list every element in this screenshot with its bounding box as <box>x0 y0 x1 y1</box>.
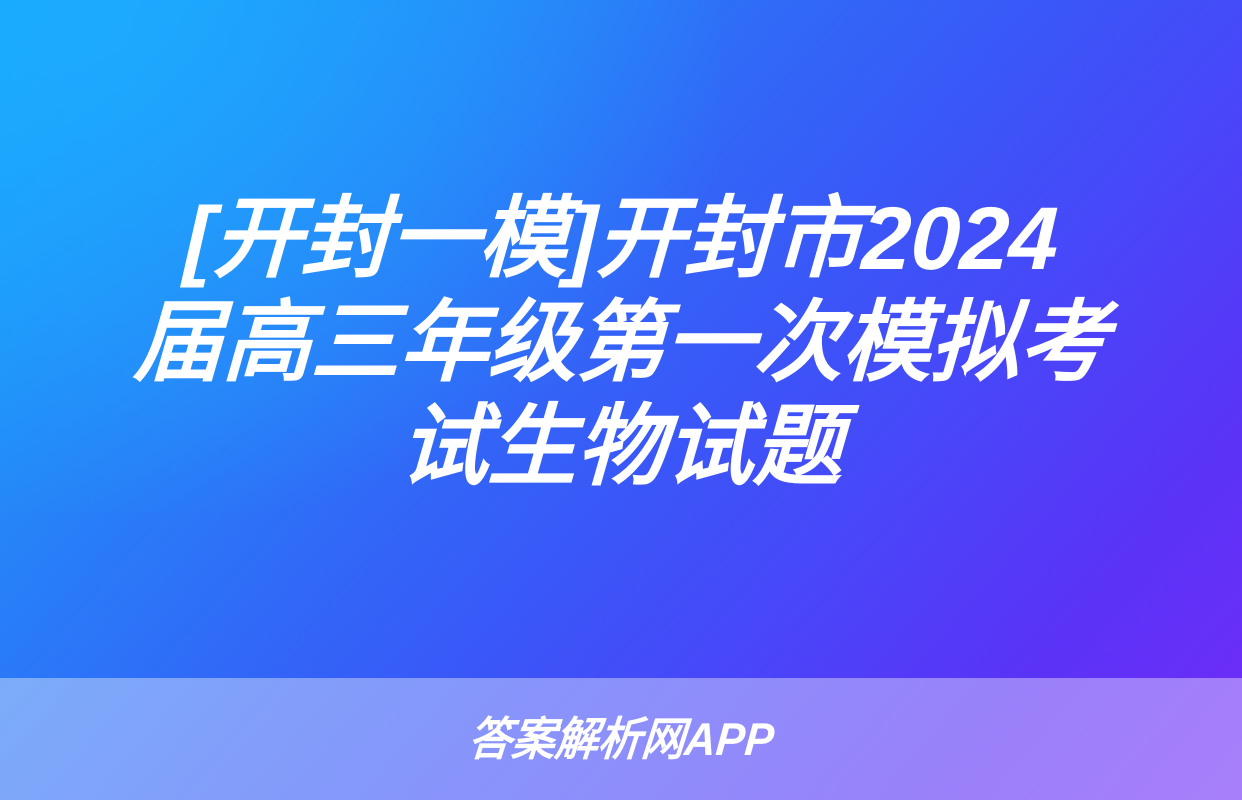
title-line-3: 试生物试题 <box>94 394 1148 498</box>
page-title: [开封一模]开封市2024 届高三年级第一次模拟考 试生物试题 <box>0 186 1242 498</box>
app-watermark: 答案解析网APP <box>466 716 775 762</box>
footer-band: 答案解析网APP <box>0 678 1242 800</box>
exam-cover-poster: [开封一模]开封市2024 届高三年级第一次模拟考 试生物试题 答案解析网APP <box>0 0 1242 800</box>
title-line-2: 届高三年级第一次模拟考 <box>94 290 1148 394</box>
title-line-1: [开封一模]开封市2024 <box>94 186 1148 290</box>
